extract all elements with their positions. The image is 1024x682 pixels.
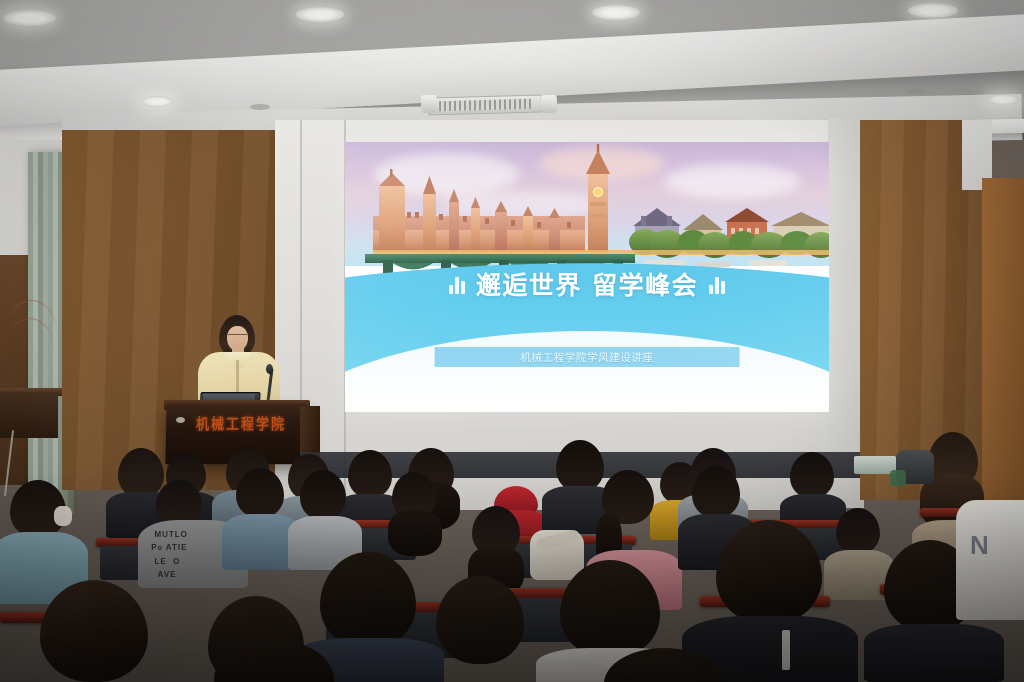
attendee-head: [836, 508, 880, 554]
bar-chart-mark-left-icon: [449, 275, 465, 294]
attendee-body: [864, 624, 1004, 682]
ceiling-air-vent: [428, 95, 542, 116]
attendee-head: [436, 576, 524, 664]
attendee-head: [556, 440, 604, 492]
microphone-head-icon: [266, 364, 273, 374]
ceiling-downlight-4: [908, 3, 958, 18]
slide-subtitle-text: 机械工程学院学风建设讲座: [520, 350, 653, 365]
wood-wall-panel-far-right: [982, 178, 1024, 508]
ceiling-downlight-6: [986, 94, 1020, 105]
podium-sign: 机械工程学院: [186, 412, 296, 432]
attendee-head: [40, 580, 148, 682]
ceiling-downlight-2: [296, 7, 344, 22]
bar-chart-mark-right-icon: [709, 275, 725, 294]
jersey-number-graphic: N: [970, 530, 1014, 570]
slide-title-text: 邂逅世界 留学峰会: [476, 266, 698, 302]
shirt-graphic-stripe: [782, 630, 790, 670]
attendee-head: [790, 452, 834, 498]
podium-sign-text: 机械工程学院: [196, 412, 286, 432]
ceiling-fixture-dot-right: [906, 88, 926, 94]
slide-title-row: 邂逅世界 留学峰会: [345, 266, 829, 302]
attendee-head: [236, 468, 284, 518]
attendee-head: [348, 450, 392, 498]
ceiling-fixture-dot-left: [250, 104, 270, 110]
backpack-green-strap: [890, 470, 906, 486]
ceiling-downlight-1: [4, 10, 56, 26]
attendee-head: [320, 552, 416, 648]
vent-cap-right: [541, 95, 557, 113]
ceiling-downlight-5: [140, 96, 174, 107]
slide-subtitle-band: 机械工程学院学风建设讲座: [435, 347, 740, 367]
attendee-face-mask-icon: [54, 506, 72, 526]
attendee-hair-long: [388, 510, 442, 556]
wall-right-strip: [828, 118, 864, 508]
vent-cap-left: [421, 95, 437, 113]
attendee-head: [300, 470, 346, 520]
speaker-glasses-icon: [228, 334, 247, 339]
attendee-head: [118, 448, 164, 498]
podium-emblem-icon: [176, 417, 185, 423]
lecture-hall-scene: 邂逅世界 留学峰会 机械工程学院学风建设讲座 机械工程学院: [0, 0, 1024, 682]
attendee-head: [692, 466, 740, 518]
side-table: [0, 392, 58, 438]
ceiling-downlight-3: [592, 5, 640, 20]
projected-slide: 邂逅世界 留学峰会 机械工程学院学风建设讲座: [345, 142, 829, 412]
